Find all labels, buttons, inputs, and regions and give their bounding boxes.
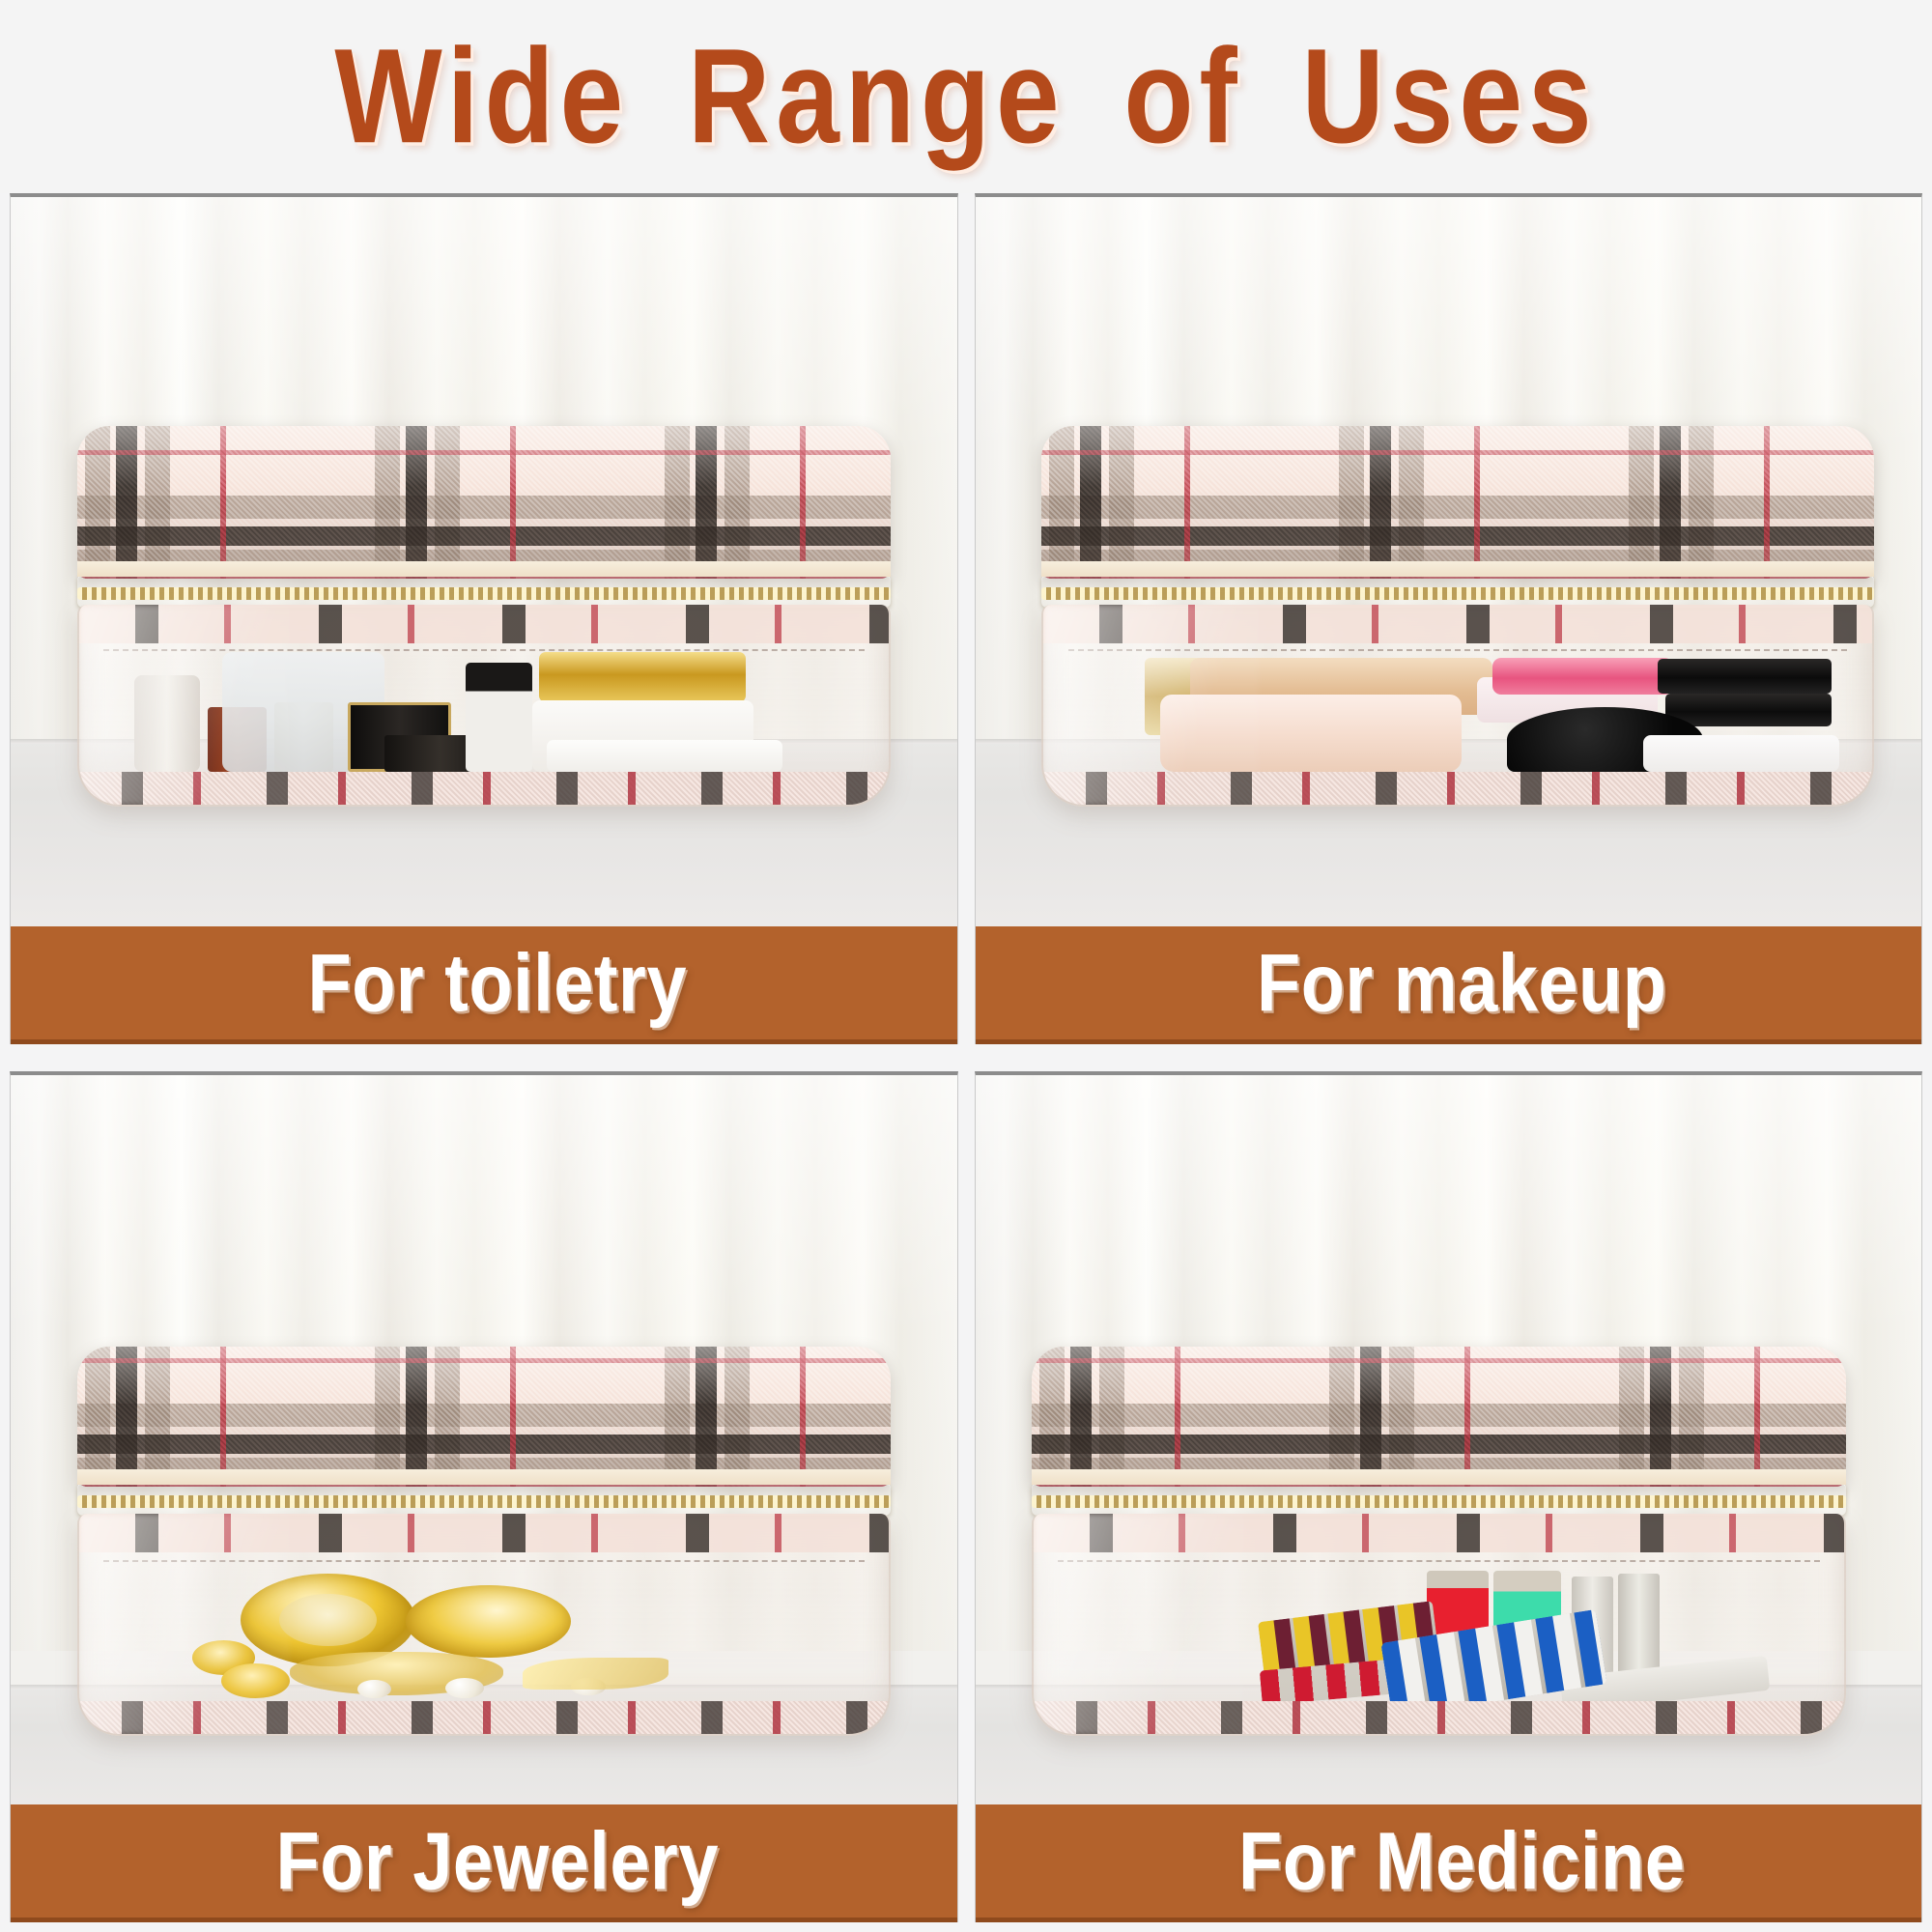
bag-top-trim (1034, 1514, 1843, 1552)
organizer-bag (1032, 1347, 1845, 1736)
content-black-cap-lipstick-1 (1658, 659, 1832, 694)
bag-lid (1041, 426, 1874, 579)
panel-jewelery[interactable]: For Jewelery (10, 1071, 958, 1922)
bag-contents (1261, 1556, 1779, 1701)
zipper-tape (1032, 1469, 1845, 1485)
zipper (1032, 1483, 1845, 1516)
header: Wide Range of Uses (0, 0, 1932, 193)
caption-label: For Medicine (1238, 1814, 1685, 1908)
caption-bar-jewelery: For Jewelery (11, 1804, 957, 1922)
content-gold-chain-strand (523, 1658, 668, 1690)
product-photo-makeup (976, 197, 1922, 1044)
bag-contents (119, 647, 856, 772)
zipper-teeth (77, 587, 891, 600)
content-amber-serum-bottle (208, 707, 267, 772)
organizer-bag (1041, 426, 1874, 808)
bag-lid (1032, 1347, 1845, 1487)
caption-label: For makeup (1257, 936, 1666, 1030)
bag-contents (192, 1556, 678, 1701)
bag-top-trim (1043, 605, 1872, 643)
caption-bar-medicine: For Medicine (976, 1804, 1922, 1922)
zipper (77, 575, 891, 608)
panel-toiletry[interactable]: For toiletry (10, 193, 958, 1044)
content-gold-bangle-inner (279, 1594, 377, 1646)
caption-label: For toiletry (308, 936, 687, 1030)
content-gold-cap-tube (1145, 658, 1228, 735)
panel-makeup[interactable]: For makeup (975, 193, 1923, 1044)
page-title: Wide Range of Uses (334, 19, 1597, 174)
content-pearl-earring-1 (357, 1680, 391, 1698)
bag-bottom-trim (1043, 772, 1872, 805)
zipper-teeth (1032, 1495, 1845, 1508)
caption-bar-toiletry: For toiletry (11, 926, 957, 1044)
zipper-teeth (77, 1495, 891, 1508)
lid-shading (77, 426, 891, 579)
bag-top-trim (79, 1514, 889, 1552)
uses-grid: For toiletry (0, 193, 1932, 1932)
lid-shading (77, 1347, 891, 1487)
lid-shading (1032, 1347, 1845, 1487)
zipper-tape (77, 561, 891, 577)
caption-bar-makeup: For makeup (976, 926, 1922, 1044)
content-white-tube (1643, 735, 1839, 773)
content-foundation-bottle-pink (1160, 695, 1462, 772)
bag-clear-body (77, 605, 891, 807)
product-photo-toiletry (11, 197, 957, 1044)
bag-clear-body (1041, 605, 1874, 807)
lid-shading (1041, 426, 1874, 579)
content-glass-ampoule-2 (1618, 1574, 1660, 1681)
content-pink-lipgloss (1492, 658, 1673, 696)
zipper (77, 1483, 891, 1516)
content-gold-bangle-small (406, 1585, 571, 1658)
content-pearl-earring-2 (445, 1678, 484, 1698)
bag-bottom-trim (1034, 1701, 1843, 1734)
organizer-bag (77, 426, 891, 808)
product-photo-medicine (976, 1075, 1922, 1922)
content-white-cream-tube (547, 740, 782, 773)
organizer-bag (77, 1347, 891, 1736)
caption-label: For Jewelery (276, 1814, 719, 1908)
content-black-cap-lipstick-2 (1665, 694, 1832, 726)
zipper-teeth (1041, 587, 1874, 600)
bag-clear-body (1032, 1514, 1845, 1736)
product-photo-jewelery (11, 1075, 957, 1922)
content-gold-ring-2 (221, 1663, 289, 1698)
panel-medicine[interactable]: For Medicine (975, 1071, 1923, 1922)
content-black-pump-cap (466, 663, 532, 773)
content-gold-foil-tube (539, 652, 746, 702)
content-clear-spray-bottle (134, 675, 201, 773)
content-gold-ring-1 (192, 1640, 255, 1675)
bag-bottom-trim (79, 1701, 889, 1734)
zipper-tape (1041, 561, 1874, 577)
bag-top-trim (79, 605, 889, 643)
bag-contents (1085, 647, 1839, 772)
bag-lid (77, 426, 891, 579)
zipper-tape (77, 1469, 891, 1485)
bag-lid (77, 1347, 891, 1487)
bag-clear-body (77, 1514, 891, 1736)
bag-bottom-trim (79, 772, 889, 805)
zipper (1041, 575, 1874, 608)
